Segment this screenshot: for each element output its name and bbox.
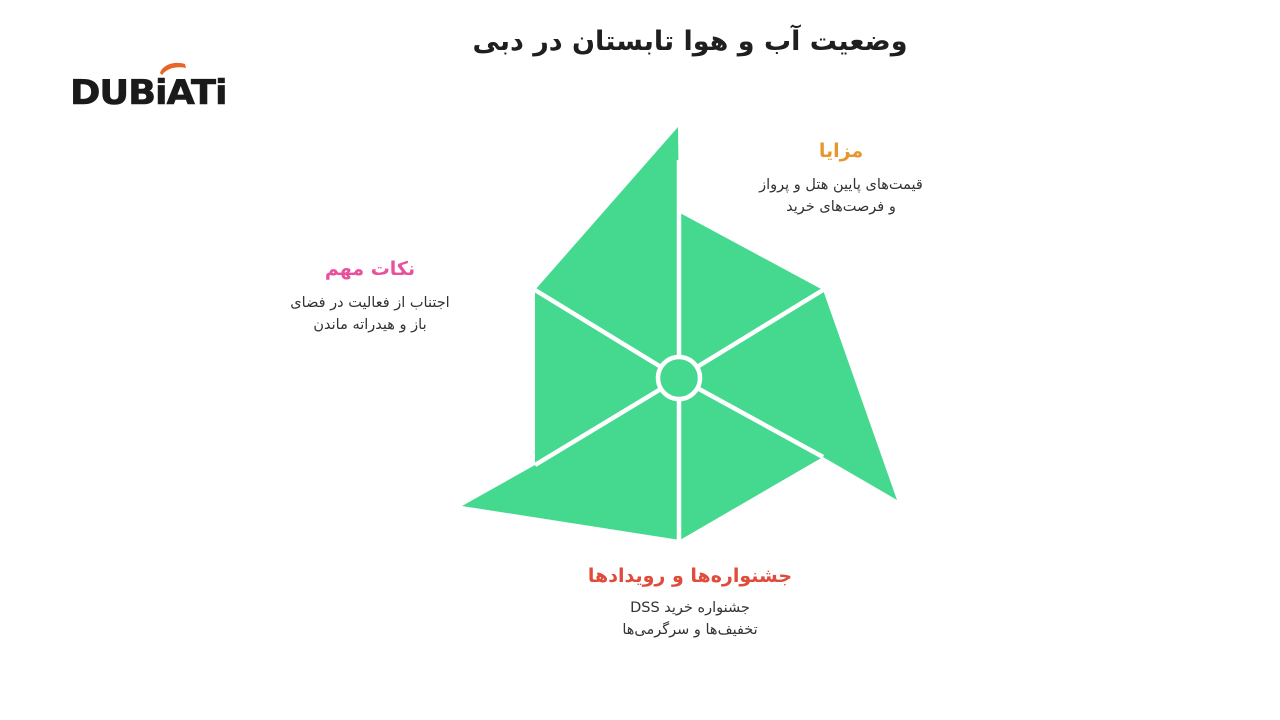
page-title: وضعیت آب و هوا تابستان در دبی — [320, 26, 1060, 57]
callout-tips-line-2: باز و هیدراته ماندن — [240, 314, 500, 336]
callout-tips-line-1: اجتناب از فعالیت در فضای — [240, 292, 500, 314]
wheel-hub — [658, 357, 700, 399]
callout-advantages: مزایا قیمت‌های پایین هتل و پرواز و فرصت‌… — [700, 140, 982, 219]
callout-festivals-body: جشنواره خرید DSS تخفیف‌ها و سرگرمی‌ها — [545, 597, 835, 642]
callout-advantages-line-2: و فرصت‌های خرید — [700, 196, 982, 218]
callout-festivals-heading: جشنواره‌ها و رویدادها — [545, 565, 835, 588]
brand-logo: DUBiATi — [70, 58, 250, 114]
logo-wordmark: DUBiATi — [70, 76, 227, 110]
callout-tips-heading: نکات مهم — [240, 258, 500, 281]
callout-advantages-heading: مزایا — [700, 140, 982, 163]
callout-festivals-line-2: تخفیف‌ها و سرگرمی‌ها — [545, 619, 835, 641]
callout-festivals-line-1: جشنواره خرید DSS — [545, 597, 835, 619]
callout-advantages-body: قیمت‌های پایین هتل و پرواز و فرصت‌های خر… — [700, 174, 982, 219]
callout-tips: نکات مهم اجتناب از فعالیت در فضای باز و … — [240, 258, 500, 337]
callout-festivals: جشنواره‌ها و رویدادها جشنواره خرید DSS ت… — [545, 565, 835, 642]
callout-advantages-line-1: قیمت‌های پایین هتل و پرواز — [700, 174, 982, 196]
logo-swoosh-icon — [159, 62, 187, 76]
callout-tips-body: اجتناب از فعالیت در فضای باز و هیدراته م… — [240, 292, 500, 337]
